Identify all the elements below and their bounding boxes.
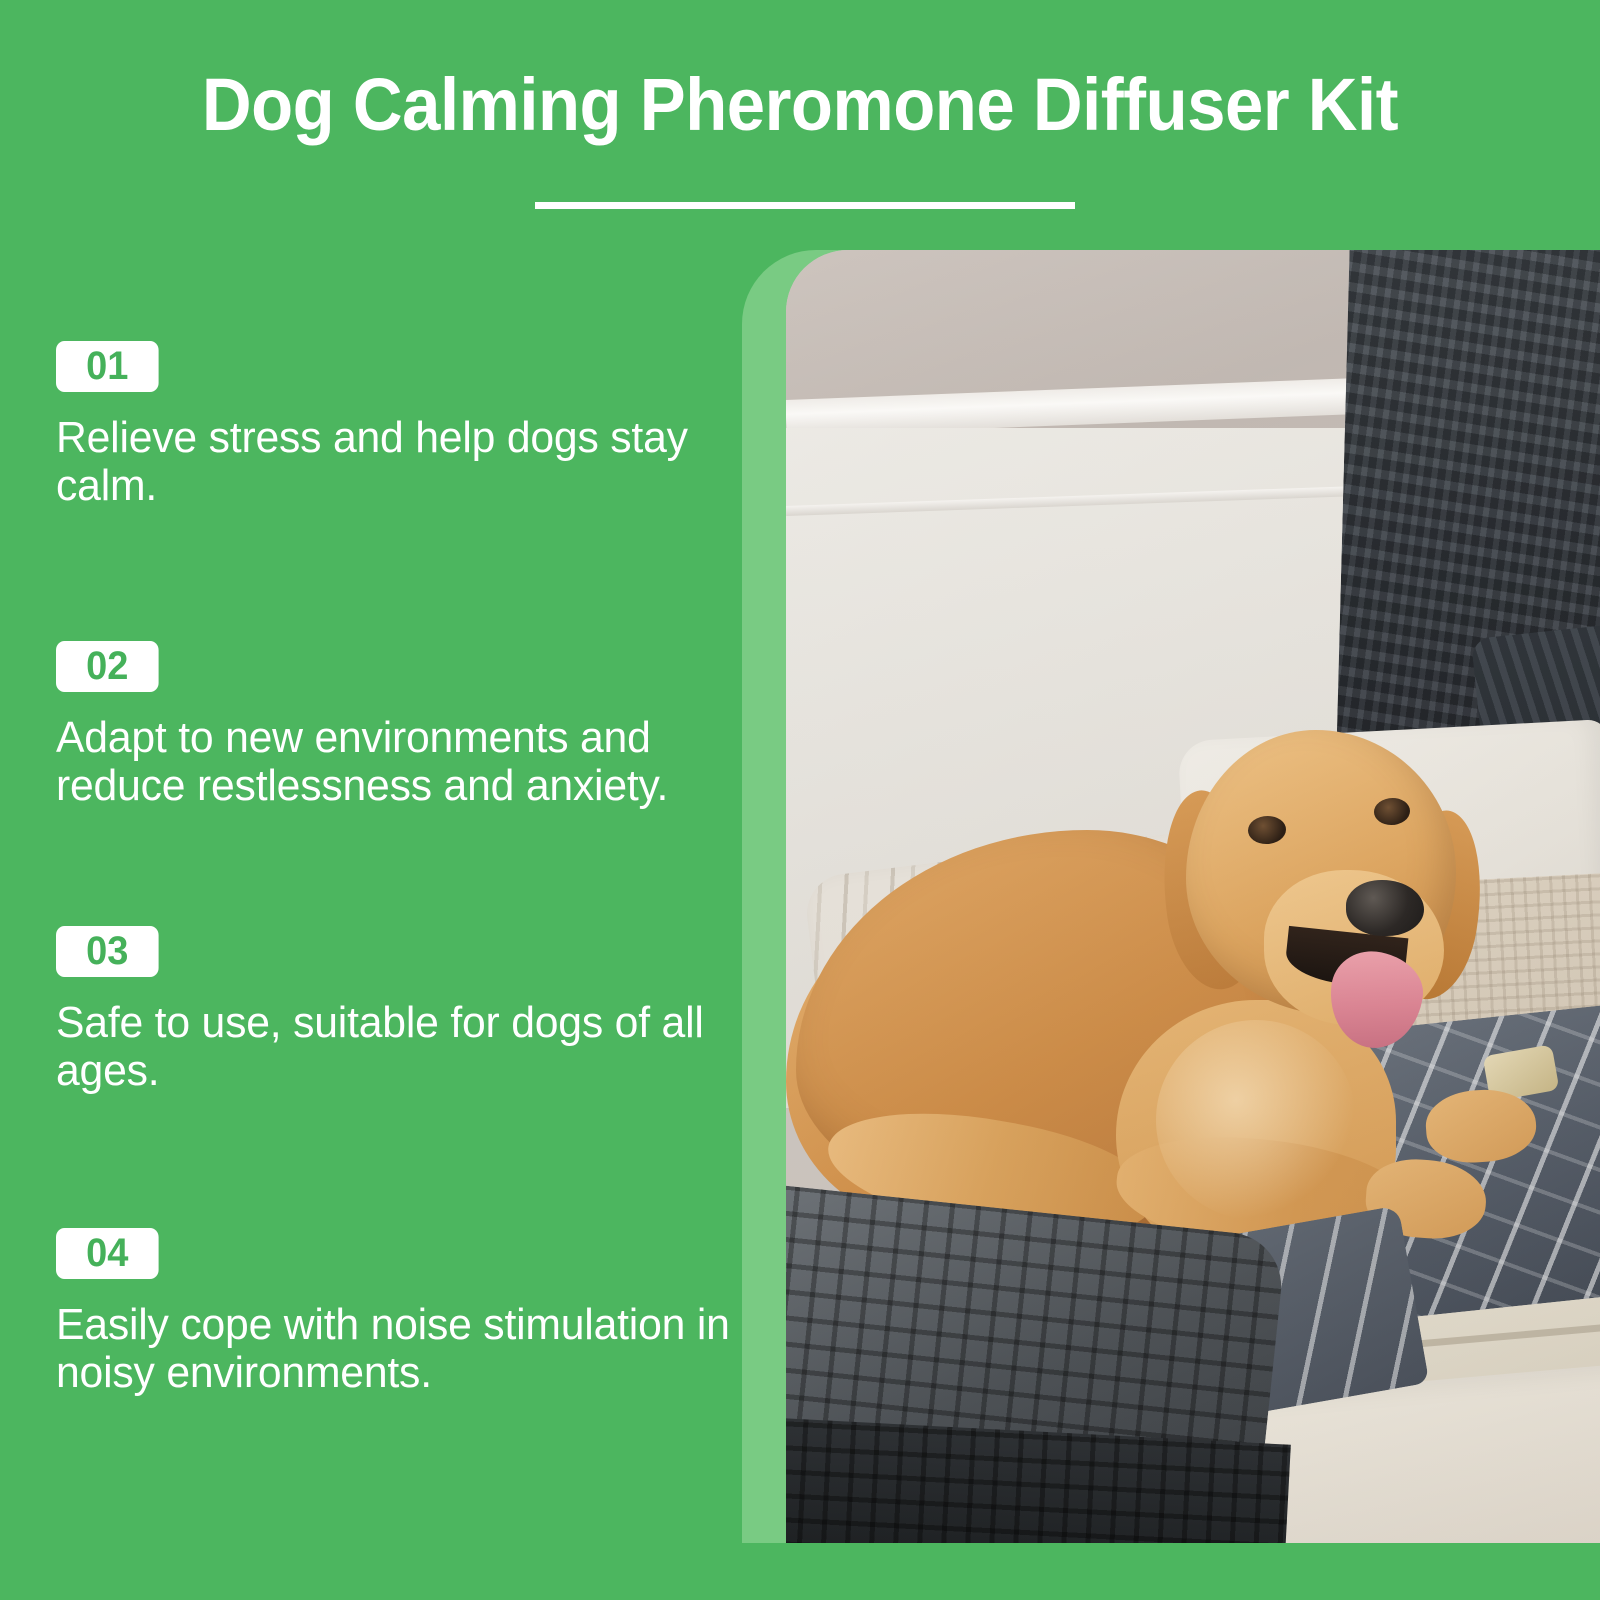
feature-text-02: Adapt to new environments and reduce res… — [56, 714, 735, 809]
dog-neck-ruff — [1156, 1020, 1356, 1220]
feature-badge-03: 03 — [56, 926, 159, 977]
feature-badge-01: 01 — [56, 341, 159, 392]
dog-nose — [1346, 880, 1424, 936]
dog-on-couch-photo — [786, 250, 1600, 1543]
feature-text-04: Easily cope with noise stimulation in no… — [56, 1301, 735, 1396]
feature-badge-02: 02 — [56, 641, 159, 692]
feature-text-01: Relieve stress and help dogs stay calm. — [56, 414, 735, 509]
product-photo-panel — [742, 250, 1600, 1543]
feature-item-01: 01 Relieve stress and help dogs stay cal… — [56, 341, 746, 509]
feature-text-03: Safe to use, suitable for dogs of all ag… — [56, 999, 735, 1094]
photo-frame — [786, 250, 1600, 1543]
feature-badge-04: 04 — [56, 1228, 159, 1279]
feature-list: 01 Relieve stress and help dogs stay cal… — [0, 0, 760, 1600]
feature-item-02: 02 Adapt to new environments and reduce … — [56, 641, 746, 809]
feature-item-04: 04 Easily cope with noise stimulation in… — [56, 1228, 746, 1396]
feature-item-03: 03 Safe to use, suitable for dogs of all… — [56, 926, 746, 1094]
